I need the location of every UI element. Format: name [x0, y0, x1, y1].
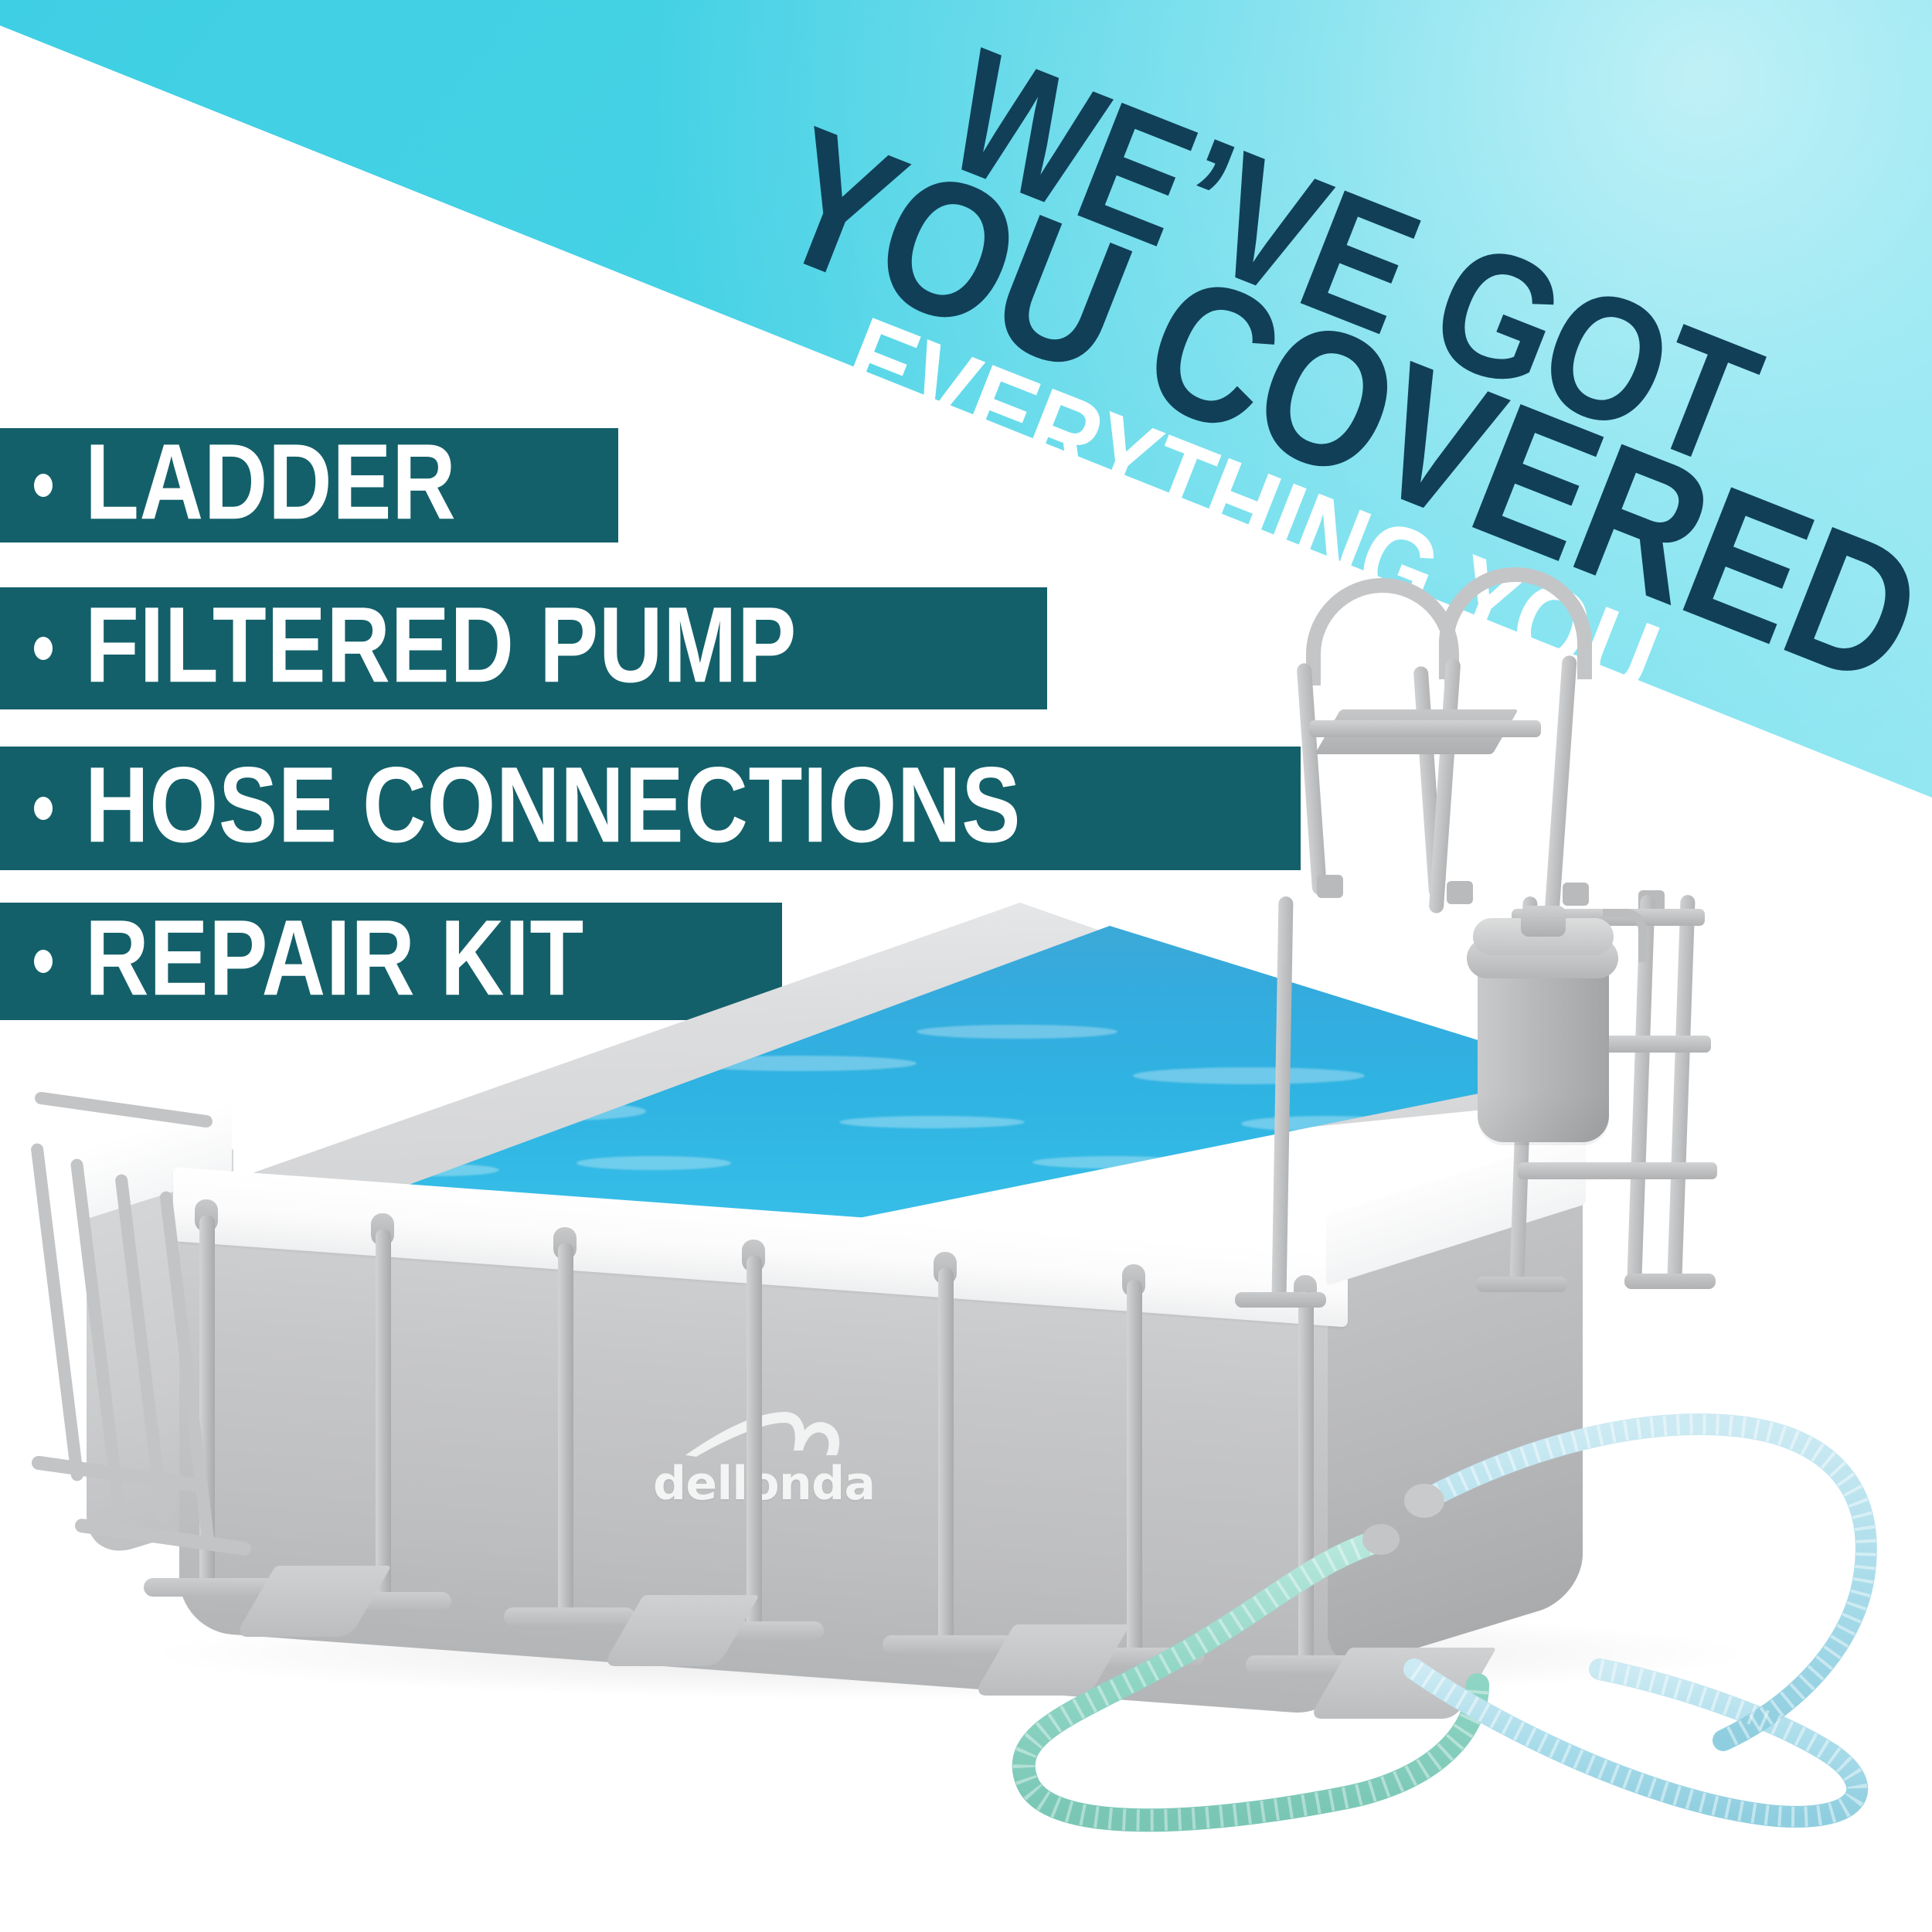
bullet-dot-icon [34, 797, 53, 820]
pool-wall-port [1404, 1484, 1444, 1518]
ladder-rail [1297, 663, 1328, 896]
ladder-rail [1544, 655, 1577, 918]
feature-bar-hose-connections: HOSE CONNECTIONS [0, 747, 1301, 870]
feature-label: FILTERED PUMP [85, 591, 797, 699]
promo-image: WE’VE GOT YOU COVERED EVERYTHING YOU NEE… [0, 0, 1932, 1932]
pool-wall-port [1362, 1524, 1400, 1555]
bullet-dot-icon [34, 637, 53, 660]
feature-bar-ladder: LADDER [0, 428, 618, 543]
ladder-clip [1563, 883, 1589, 906]
feature-label: HOSE CONNECTIONS [85, 751, 1021, 859]
hose-group [0, 912, 1932, 1932]
product-image-pool: dellonda [0, 912, 1932, 1932]
feature-bar-filtered-pump: FILTERED PUMP [0, 587, 1047, 709]
ladder-step [1309, 720, 1541, 737]
feature-label: LADDER [85, 428, 456, 536]
ladder-clip [1447, 881, 1473, 904]
bullet-dot-icon [34, 474, 53, 497]
pump-inlet-hose [1024, 1539, 1478, 1820]
ladder-clip [1317, 875, 1343, 898]
